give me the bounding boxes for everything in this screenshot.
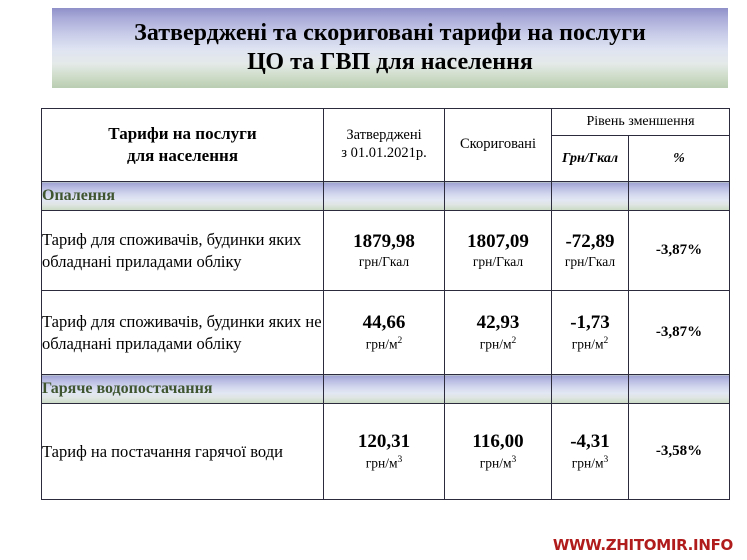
value-corrected: 116,00 — [445, 431, 551, 454]
slide-title-banner: Затверджені та скориговані тарифи на пос… — [52, 8, 728, 88]
cell-approved: 120,31 грн/м3 — [324, 404, 445, 500]
row-label: Тариф на постачання гарячої води — [42, 404, 324, 500]
unit-corrected: грн/м3 — [445, 455, 551, 472]
unit-approved: грн/м2 — [324, 336, 444, 353]
site-watermark: WWW.ZHITOMIR.INFO — [553, 536, 733, 554]
section-spacer-cell — [552, 375, 629, 404]
cell-corrected: 1807,09 грн/Гкал — [445, 211, 552, 291]
page-title: Затверджені та скориговані тарифи на пос… — [128, 19, 652, 78]
section-spacer-cell — [629, 375, 730, 404]
title-line-2: ЦО та ГВП для населення — [247, 49, 533, 75]
title-line-1: Затверджені та скориговані тарифи на пос… — [134, 20, 646, 46]
section-row-hot-water: Гаряче водопостачання — [42, 375, 730, 404]
table-header-row: Тарифи на послуги для населення Затвердж… — [42, 109, 730, 136]
cell-corrected: 42,93 грн/м2 — [445, 291, 552, 375]
cell-approved: 1879,98 грн/Гкал — [324, 211, 445, 291]
header-approved-line2: з 01.01.2021р. — [341, 145, 426, 161]
value-delta: -72,89 — [552, 231, 628, 254]
unit-approved: грн/Гкал — [324, 254, 444, 270]
unit-delta: грн/Гкал — [552, 254, 628, 270]
value-delta: -1,73 — [552, 312, 628, 335]
unit-corrected: грн/м2 — [445, 336, 551, 353]
unit-corrected: грн/Гкал — [445, 254, 551, 270]
cell-percent: -3,87% — [629, 291, 730, 375]
header-service-name: Тарифи на послуги для населення — [42, 109, 324, 182]
header-approved-line1: Затверджені — [346, 127, 421, 143]
value-corrected: 1807,09 — [445, 231, 551, 254]
cell-percent: -3,58% — [629, 404, 730, 500]
table-row: Тариф для споживачів, будинки яких облад… — [42, 211, 730, 291]
cell-corrected: 116,00 грн/м3 — [445, 404, 552, 500]
row-label: Тариф для споживачів, будинки яких не об… — [42, 291, 324, 375]
section-row-heating: Опалення — [42, 182, 730, 211]
cell-delta: -1,73 грн/м2 — [552, 291, 629, 375]
tariff-table: Тарифи на послуги для населення Затвердж… — [41, 108, 730, 500]
table-row: Тариф для споживачів, будинки яких не об… — [42, 291, 730, 375]
cell-delta: -4,31 грн/м3 — [552, 404, 629, 500]
unit-delta: грн/м2 — [552, 336, 628, 353]
value-delta: -4,31 — [552, 431, 628, 454]
value-approved: 44,66 — [324, 312, 444, 335]
section-spacer-cell — [324, 182, 445, 211]
section-title-heating: Опалення — [42, 182, 324, 211]
value-approved: 120,31 — [324, 431, 444, 454]
header-reduction-absolute: Грн/Гкал — [552, 136, 629, 182]
unit-delta: грн/м3 — [552, 455, 628, 472]
section-spacer-cell — [629, 182, 730, 211]
header-service-name-line1: Тарифи на послуги — [108, 124, 256, 143]
table-row: Тариф на постачання гарячої води 120,31 … — [42, 404, 730, 500]
cell-percent: -3,87% — [629, 211, 730, 291]
header-reduction-group: Рівень зменшення — [552, 109, 730, 136]
section-spacer-cell — [552, 182, 629, 211]
unit-approved: грн/м3 — [324, 455, 444, 472]
header-service-name-line2: для населення — [127, 146, 238, 165]
header-approved: Затверджені з 01.01.2021р. — [324, 109, 445, 182]
section-spacer-cell — [445, 182, 552, 211]
section-spacer-cell — [445, 375, 552, 404]
section-spacer-cell — [324, 375, 445, 404]
value-approved: 1879,98 — [324, 231, 444, 254]
header-reduction-percent: % — [629, 136, 730, 182]
cell-approved: 44,66 грн/м2 — [324, 291, 445, 375]
cell-delta: -72,89 грн/Гкал — [552, 211, 629, 291]
section-title-hot-water: Гаряче водопостачання — [42, 375, 324, 404]
value-corrected: 42,93 — [445, 312, 551, 335]
row-label: Тариф для споживачів, будинки яких облад… — [42, 211, 324, 291]
header-corrected: Скориговані — [445, 109, 552, 182]
